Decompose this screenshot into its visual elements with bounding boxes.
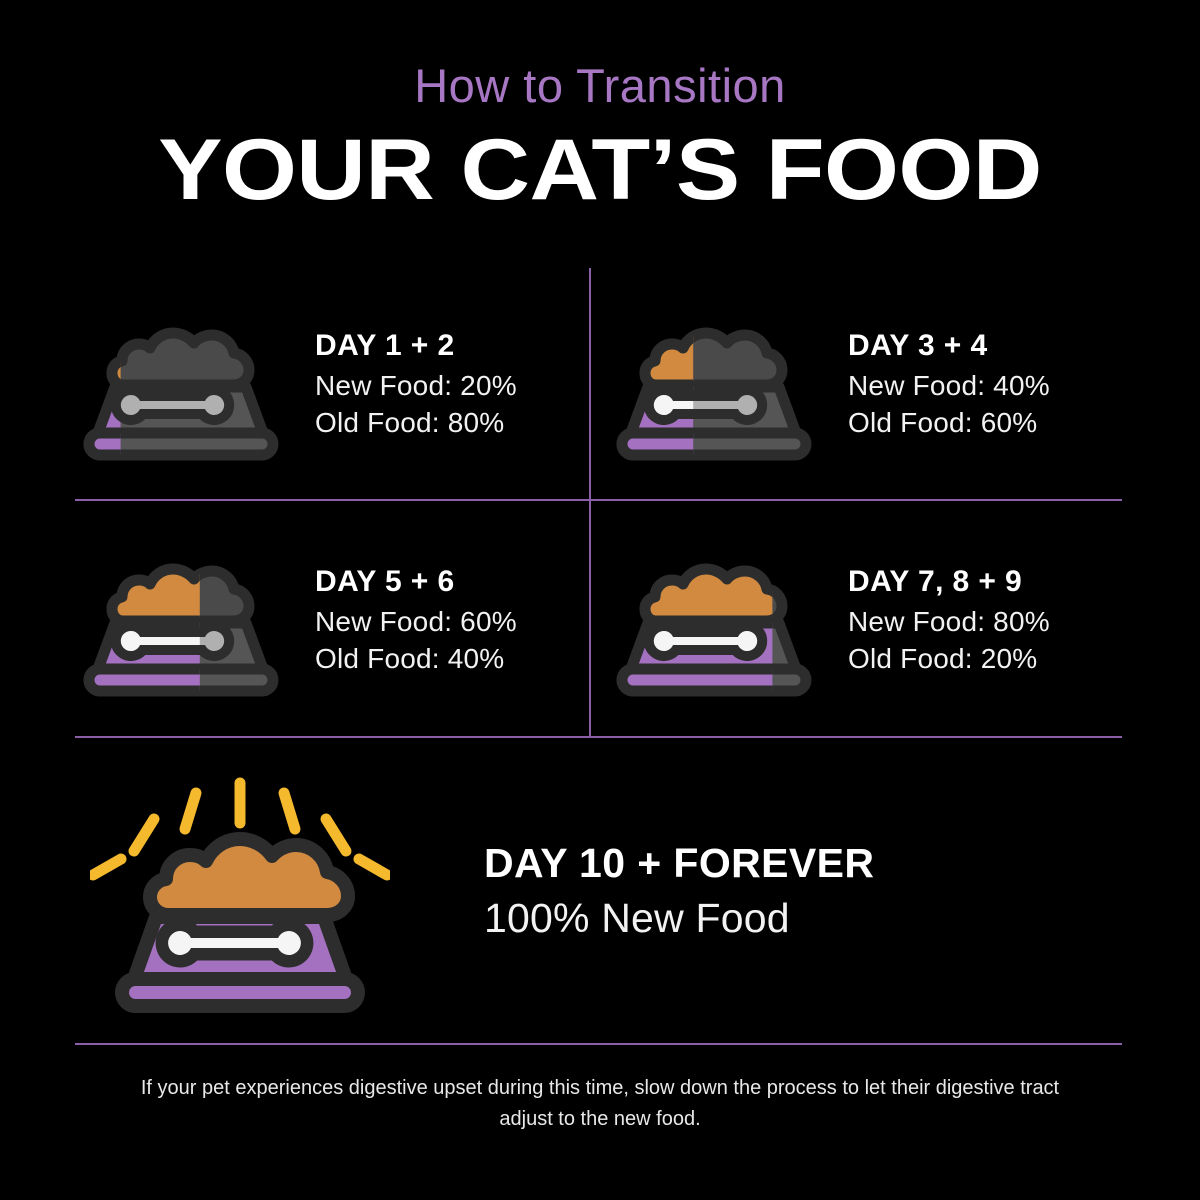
step-card-day-5-6: DAY 5 + 6 New Food: 60% Old Food: 40% — [75, 504, 589, 736]
divider-horizontal-footer — [75, 1043, 1122, 1045]
step-old-food: Old Food: 40% — [315, 640, 589, 677]
bowl-svg-80 — [614, 535, 834, 705]
footer-note: If your pet experiences digestive upset … — [120, 1073, 1080, 1135]
page-title: YOUR CAT’S FOOD — [0, 125, 1200, 215]
step-day-label: DAY 5 + 6 — [315, 563, 589, 601]
step-day-label: DAY 7, 8 + 9 — [848, 563, 1122, 601]
bowl-svg-40 — [614, 299, 834, 469]
cat-food-bowl-icon — [608, 299, 840, 469]
step-card-day-1-2: DAY 1 + 2 New Food: 20% Old Food: 80% — [75, 268, 589, 500]
final-step-subtitle: 100% New Food — [484, 892, 1200, 945]
step-text-block: DAY 3 + 4 New Food: 40% Old Food: 60% — [840, 327, 1122, 441]
step-old-food: Old Food: 80% — [315, 404, 589, 441]
divider-horizontal-lower — [75, 736, 1122, 738]
step-text-block: DAY 5 + 6 New Food: 60% Old Food: 40% — [307, 563, 589, 677]
step-new-food: New Food: 20% — [315, 367, 589, 404]
bowl-svg-60 — [81, 535, 301, 705]
bowl-svg-20 — [81, 299, 301, 469]
bone-icon — [121, 395, 224, 415]
bone-icon — [168, 931, 301, 955]
step-card-day-7-8-9: DAY 7, 8 + 9 New Food: 80% Old Food: 20% — [608, 504, 1122, 736]
step-old-food: Old Food: 20% — [848, 640, 1122, 677]
bone-icon — [654, 631, 757, 651]
final-step-text-block: DAY 10 + FOREVER 100% New Food — [480, 839, 1200, 945]
page-header: How to Transition YOUR CAT’S FOOD — [0, 0, 1200, 215]
bone-icon — [121, 631, 224, 651]
eyebrow-title: How to Transition — [0, 62, 1200, 109]
bone-icon — [654, 395, 757, 415]
step-old-food: Old Food: 60% — [848, 404, 1122, 441]
cat-food-bowl-icon — [75, 535, 307, 705]
step-card-day-3-4: DAY 3 + 4 New Food: 40% Old Food: 60% — [608, 268, 1122, 500]
step-day-label: DAY 1 + 2 — [315, 327, 589, 365]
step-new-food: New Food: 40% — [848, 367, 1122, 404]
step-new-food: New Food: 60% — [315, 603, 589, 640]
step-text-block: DAY 1 + 2 New Food: 20% Old Food: 80% — [307, 327, 589, 441]
cat-food-bowl-sunburst-icon — [0, 767, 480, 1017]
bowl-svg-100 — [90, 767, 390, 1017]
cat-food-bowl-icon — [608, 535, 840, 705]
step-new-food: New Food: 80% — [848, 603, 1122, 640]
final-step-row: DAY 10 + FOREVER 100% New Food — [0, 748, 1200, 1036]
final-step-day-label: DAY 10 + FOREVER — [484, 839, 1200, 888]
step-day-label: DAY 3 + 4 — [848, 327, 1122, 365]
transition-steps-grid: DAY 1 + 2 New Food: 20% Old Food: 80% — [0, 268, 1200, 736]
step-text-block: DAY 7, 8 + 9 New Food: 80% Old Food: 20% — [840, 563, 1122, 677]
cat-food-bowl-icon — [75, 299, 307, 469]
